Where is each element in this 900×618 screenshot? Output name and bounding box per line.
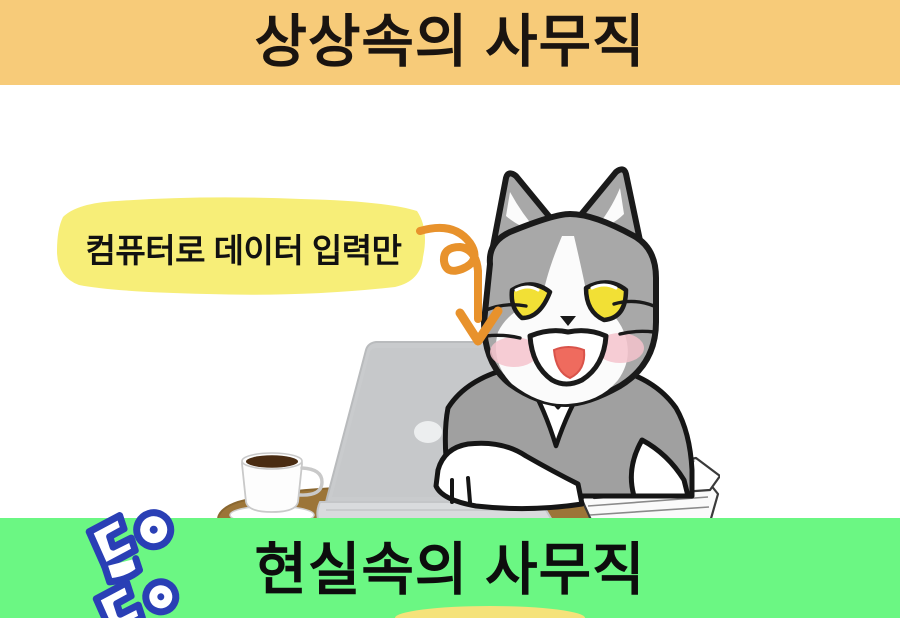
highlight-text: 컴퓨터로 데이터 입력만 bbox=[61, 224, 426, 272]
top-banner: 상상속의 사무직 bbox=[0, 0, 900, 85]
curly-arrow-icon bbox=[412, 217, 517, 352]
illustration-scene: 컴퓨터로 데이터 입력만 bbox=[0, 85, 900, 518]
bottom-banner-title: 현실속의 사무직 bbox=[255, 542, 646, 599]
bottom-banner: 현실속의 사무직 bbox=[0, 518, 900, 618]
highlight-callout: 컴퓨터로 데이터 입력만 bbox=[55, 195, 430, 297]
top-banner-title: 상상속의 사무직 bbox=[255, 14, 646, 71]
meme-image: 상상속의 사무직 bbox=[0, 0, 900, 618]
